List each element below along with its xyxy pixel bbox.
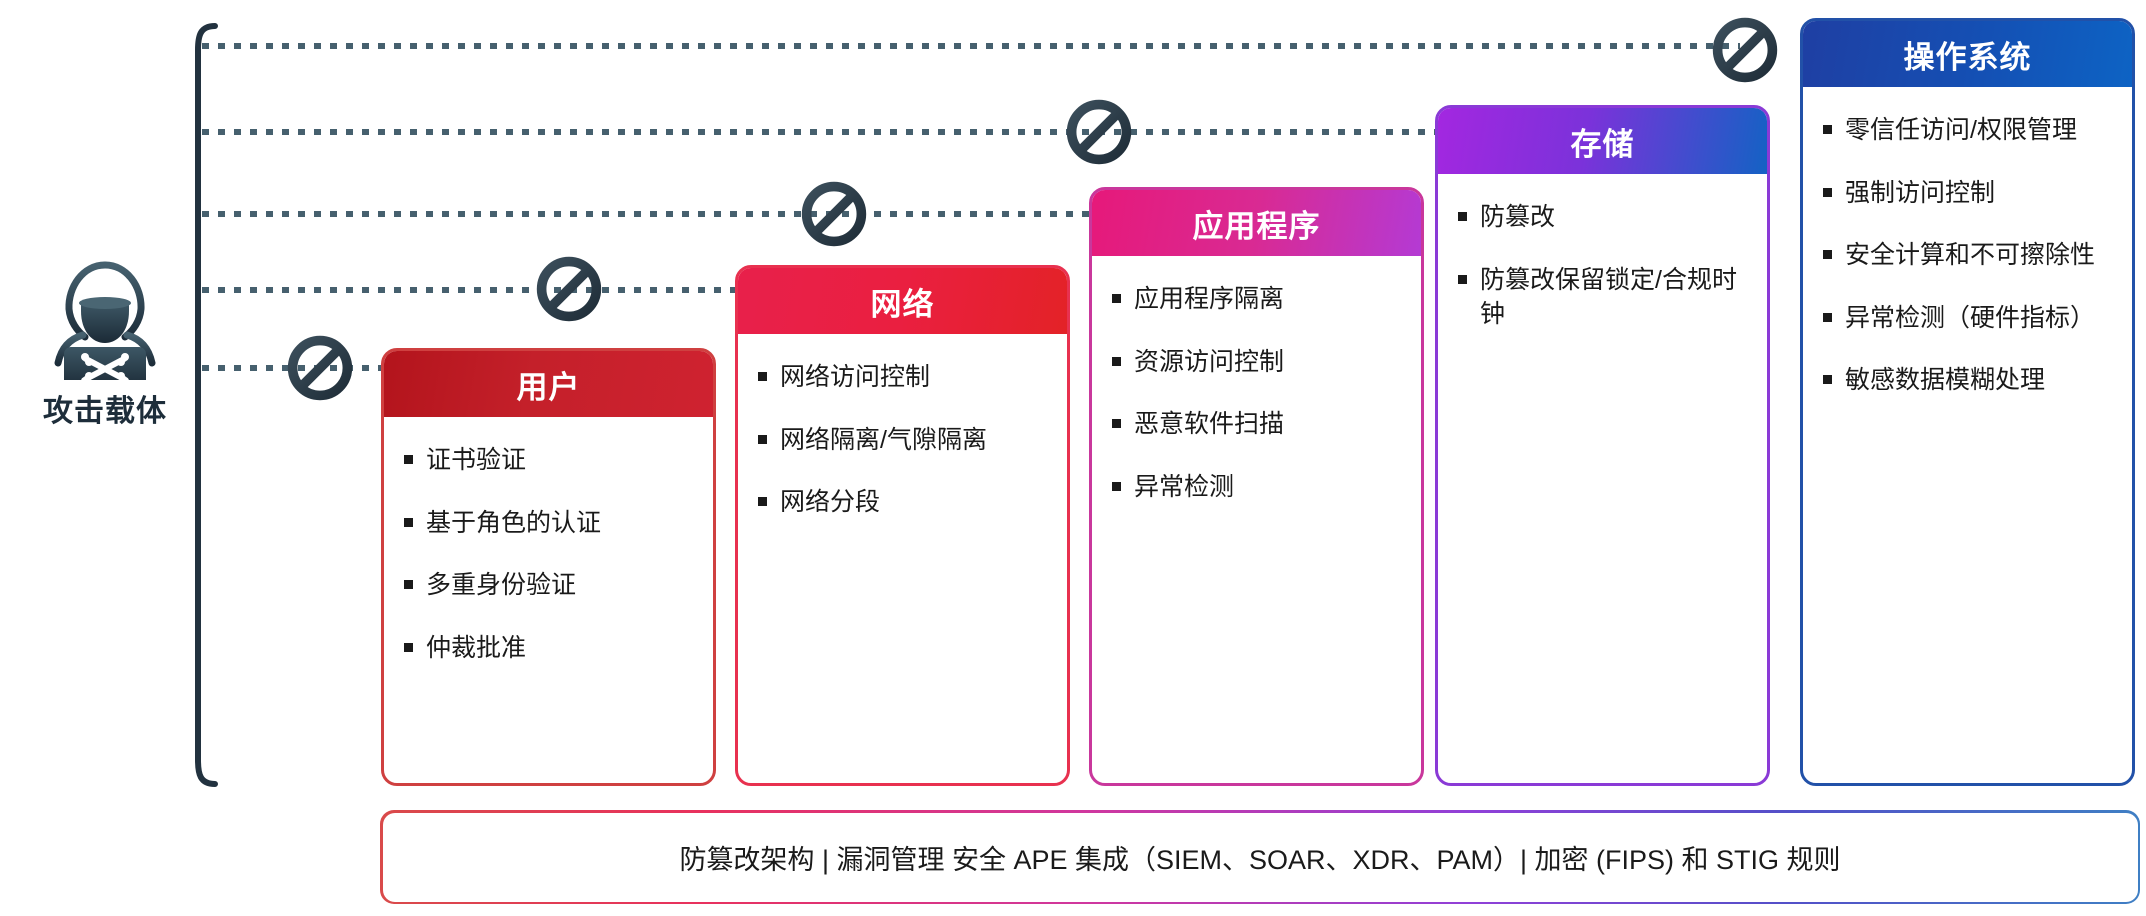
layer-items-os: 零信任访问/权限管理 强制访问控制 安全计算和不可擦除性 异常检测（硬件指标） … (1803, 87, 2132, 436)
layer-title-os: 操作系统 (1803, 21, 2132, 87)
list-item: 防篡改保留锁定/合规时钟 (1458, 263, 1749, 332)
layer-card-user[interactable]: 用户 证书验证 基于角色的认证 多重身份验证 仲裁批准 (381, 348, 716, 786)
layer-card-os[interactable]: 操作系统 零信任访问/权限管理 强制访问控制 安全计算和不可擦除性 异常检测（硬… (1800, 18, 2135, 786)
bullet-icon (1823, 125, 1832, 134)
list-item: 网络访问控制 (758, 360, 1049, 395)
layer-card-storage[interactable]: 存储 防篡改 防篡改保留锁定/合规时钟 (1435, 105, 1770, 786)
attack-bracket (198, 26, 215, 784)
list-item: 敏感数据模糊处理 (1823, 363, 2114, 398)
bullet-icon (1112, 419, 1121, 428)
attack-vector-group: 攻击载体 (10, 255, 200, 430)
list-item: 资源访问控制 (1112, 345, 1403, 380)
bullet-icon (1823, 313, 1832, 322)
bullet-icon (404, 518, 413, 527)
list-item: 应用程序隔离 (1112, 282, 1403, 317)
foundation-text: 防篡改架构 | 漏洞管理 安全 APE 集成（SIEM、SOAR、XDR、PAM… (679, 838, 1840, 877)
bullet-icon (1112, 357, 1121, 366)
bullet-icon (1823, 250, 1832, 259)
list-item: 防篡改 (1458, 200, 1749, 235)
bullet-icon (404, 455, 413, 464)
layer-items-application: 应用程序隔离 资源访问控制 恶意软件扫描 异常检测 (1092, 256, 1421, 542)
list-item: 多重身份验证 (404, 568, 695, 603)
bullet-icon (1823, 375, 1832, 384)
hacker-icon (39, 255, 171, 380)
bullet-icon (404, 580, 413, 589)
bullet-icon (404, 643, 413, 652)
foundation-bar[interactable]: 防篡改架构 | 漏洞管理 安全 APE 集成（SIEM、SOAR、XDR、PAM… (380, 810, 2140, 904)
list-item: 异常检测（硬件指标） (1823, 301, 2114, 336)
layer-items-user: 证书验证 基于角色的认证 多重身份验证 仲裁批准 (384, 417, 713, 703)
prohibition-icon (532, 252, 606, 326)
layer-card-application[interactable]: 应用程序 应用程序隔离 资源访问控制 恶意软件扫描 异常检测 (1089, 187, 1424, 786)
bullet-icon (1823, 188, 1832, 197)
bullet-icon (758, 435, 767, 444)
layer-title-network: 网络 (738, 268, 1067, 334)
prohibition-icon (1062, 95, 1136, 169)
list-item: 网络分段 (758, 485, 1049, 520)
prohibition-icon (1708, 13, 1782, 87)
list-item: 网络隔离/气隙隔离 (758, 423, 1049, 458)
list-item: 恶意软件扫描 (1112, 407, 1403, 442)
bullet-icon (758, 372, 767, 381)
list-item: 零信任访问/权限管理 (1823, 113, 2114, 148)
prohibition-icon (797, 177, 871, 251)
bullet-icon (1458, 275, 1467, 284)
prohibition-icon (283, 331, 357, 405)
layer-title-storage: 存储 (1438, 108, 1767, 174)
attack-vector-label: 攻击载体 (10, 386, 200, 430)
list-item: 异常检测 (1112, 470, 1403, 505)
list-item: 强制访问控制 (1823, 176, 2114, 211)
layer-items-network: 网络访问控制 网络隔离/气隙隔离 网络分段 (738, 334, 1067, 558)
layer-title-application: 应用程序 (1092, 190, 1421, 256)
bullet-icon (758, 497, 767, 506)
layer-items-storage: 防篡改 防篡改保留锁定/合规时钟 (1438, 174, 1767, 370)
layer-card-network[interactable]: 网络 网络访问控制 网络隔离/气隙隔离 网络分段 (735, 265, 1070, 786)
list-item: 证书验证 (404, 443, 695, 478)
list-item: 安全计算和不可擦除性 (1823, 238, 2114, 273)
list-item: 基于角色的认证 (404, 506, 695, 541)
bullet-icon (1112, 482, 1121, 491)
foundation-bar-inner: 防篡改架构 | 漏洞管理 安全 APE 集成（SIEM、SOAR、XDR、PAM… (383, 813, 2138, 902)
bullet-icon (1458, 212, 1467, 221)
bullet-icon (1112, 294, 1121, 303)
list-item: 仲裁批准 (404, 631, 695, 666)
layer-title-user: 用户 (384, 351, 713, 417)
security-layers-diagram: 攻击载体 用户 (0, 0, 2146, 916)
